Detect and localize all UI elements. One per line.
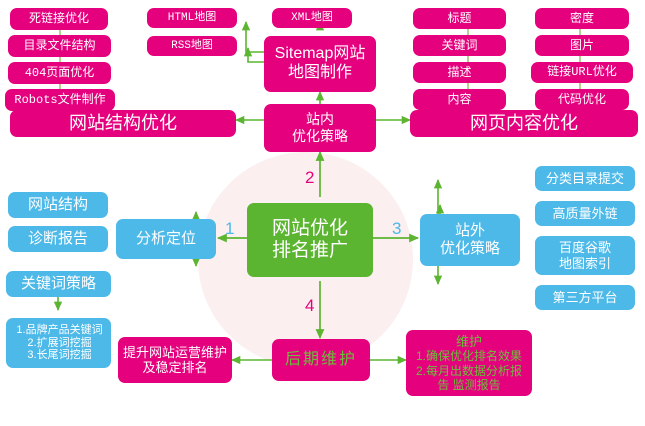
node-directory-structure[interactable]: 目录文件结构 bbox=[8, 35, 111, 57]
node-dead-link-optimization[interactable]: 死链接优化 bbox=[10, 8, 108, 30]
node-code-optimization[interactable]: 代码优化 bbox=[535, 89, 629, 110]
node-quality-backlinks[interactable]: 高质量外链 bbox=[535, 201, 635, 226]
maintenance-detail-line-3: 告 监测报告 bbox=[437, 378, 500, 392]
node-maintenance-result[interactable]: 提升网站运营维护 及稳定排名 bbox=[118, 337, 232, 383]
node-rss-sitemap[interactable]: RSS地图 bbox=[147, 36, 237, 56]
number-1: 1 bbox=[225, 219, 234, 239]
node-xml-sitemap[interactable]: XML地图 bbox=[272, 8, 352, 28]
node-content-title[interactable]: 标题 bbox=[413, 8, 506, 29]
node-content-description[interactable]: 描述 bbox=[413, 62, 506, 83]
keyword-detail-line-1: 1.品牌产品关键词 bbox=[16, 324, 102, 337]
node-404-optimization[interactable]: 404页面优化 bbox=[8, 62, 111, 84]
node-page-content-optimization[interactable]: 网页内容优化 bbox=[410, 110, 638, 137]
maintenance-result-line-1: 提升网站运营维护 bbox=[123, 345, 227, 360]
node-html-sitemap[interactable]: HTML地图 bbox=[147, 8, 237, 28]
diagram-canvas: 网站优化 排名推广 1 2 3 4 站内 优化策略 Sitemap网站 地图制作… bbox=[0, 0, 645, 426]
number-2: 2 bbox=[305, 168, 314, 188]
node-post-maintenance[interactable]: 后期维护 bbox=[272, 339, 370, 381]
map-index-line-2: 地图索引 bbox=[559, 256, 611, 271]
number-4: 4 bbox=[305, 296, 314, 316]
node-sitemap[interactable]: Sitemap网站 地图制作 bbox=[264, 36, 376, 92]
offsite-strategy-line-2: 优化策略 bbox=[440, 240, 500, 258]
sitemap-line-1: Sitemap网站 bbox=[275, 45, 366, 64]
node-keyword-detail[interactable]: 1.品牌产品关键词 2.扩展词挖掘 3.长尾词挖掘 bbox=[6, 318, 111, 368]
center-line-1: 网站优化 bbox=[272, 218, 348, 240]
onsite-strategy-line-2: 优化策略 bbox=[292, 128, 348, 145]
onsite-strategy-line-1: 站内 bbox=[306, 111, 334, 128]
node-robots-file[interactable]: Robots文件制作 bbox=[5, 89, 115, 111]
center-line-2: 排名推广 bbox=[272, 240, 348, 262]
node-content-body[interactable]: 内容 bbox=[413, 89, 506, 110]
node-content-density[interactable]: 密度 bbox=[535, 8, 629, 29]
node-directory-submission[interactable]: 分类目录提交 bbox=[535, 166, 635, 191]
node-site-structure[interactable]: 网站结构 bbox=[8, 192, 108, 218]
node-onsite-strategy[interactable]: 站内 优化策略 bbox=[264, 104, 376, 152]
node-site-structure-optimization[interactable]: 网站结构优化 bbox=[10, 110, 236, 137]
node-content-keywords[interactable]: 关键词 bbox=[413, 35, 506, 56]
node-content-images[interactable]: 图片 bbox=[535, 35, 629, 56]
maintenance-detail-line-1: 1.确保优化排名效果 bbox=[416, 349, 522, 363]
maintenance-detail-line-2: 2.每月出数据分析报 bbox=[416, 364, 522, 378]
node-diagnosis-report[interactable]: 诊断报告 bbox=[8, 226, 108, 252]
center-node[interactable]: 网站优化 排名推广 bbox=[247, 203, 373, 277]
keyword-detail-line-3: 3.长尾词挖掘 bbox=[27, 349, 91, 362]
node-offsite-strategy[interactable]: 站外 优化策略 bbox=[420, 214, 520, 266]
node-maintenance-detail[interactable]: 维护 1.确保优化排名效果 2.每月出数据分析报 告 监测报告 bbox=[406, 330, 532, 396]
maintenance-result-line-2: 及稳定排名 bbox=[142, 360, 207, 375]
offsite-strategy-line-1: 站外 bbox=[455, 222, 485, 240]
keyword-detail-line-2: 2.扩展词挖掘 bbox=[27, 337, 91, 350]
map-index-line-1: 百度谷歌 bbox=[559, 240, 611, 255]
node-url-optimization[interactable]: 链接URL优化 bbox=[531, 62, 633, 83]
node-analysis-positioning[interactable]: 分析定位 bbox=[116, 219, 216, 259]
node-keyword-strategy[interactable]: 关键词策略 bbox=[6, 271, 111, 297]
node-third-party-platform[interactable]: 第三方平台 bbox=[535, 285, 635, 310]
number-3: 3 bbox=[392, 219, 401, 239]
node-map-index[interactable]: 百度谷歌 地图索引 bbox=[535, 236, 635, 275]
sitemap-line-2: 地图制作 bbox=[288, 64, 352, 83]
maintenance-detail-title: 维护 bbox=[456, 334, 482, 349]
